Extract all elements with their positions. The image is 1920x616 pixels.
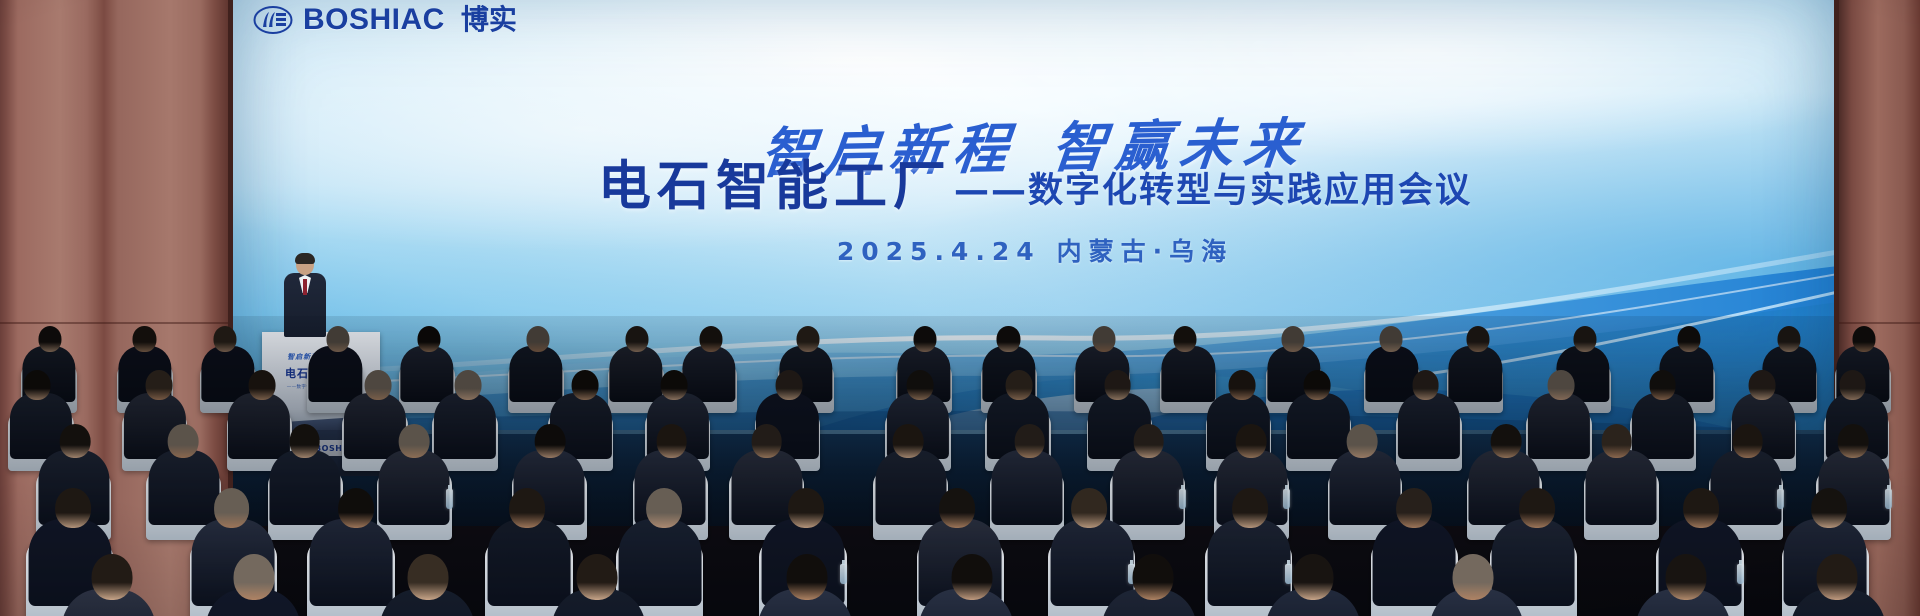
audience-head xyxy=(1601,424,1632,458)
audience-head xyxy=(1520,488,1556,528)
audience-head xyxy=(338,488,374,528)
audience-head xyxy=(1236,424,1267,458)
audience-member xyxy=(912,554,1020,616)
audience-member xyxy=(545,554,653,616)
audience-head xyxy=(1853,326,1876,352)
audience-head xyxy=(455,370,482,400)
audience-head xyxy=(626,326,649,352)
audience-head xyxy=(364,370,391,400)
audience-head xyxy=(1649,370,1676,400)
audience-head xyxy=(1229,370,1256,400)
audience-head xyxy=(1467,326,1490,352)
audience-head xyxy=(656,424,687,458)
water-bottle xyxy=(1885,489,1892,509)
event-date: 2025.4.24 xyxy=(837,237,1041,266)
audience-shoulders xyxy=(1398,393,1460,459)
audience-head xyxy=(248,370,275,400)
audience-member xyxy=(1423,554,1531,616)
audience-head xyxy=(786,554,827,600)
audience-head xyxy=(1133,424,1164,458)
audience-head xyxy=(646,488,682,528)
audience-member xyxy=(1785,554,1893,616)
speaker-tie xyxy=(303,279,307,295)
logo-brand-chinese: 博实 xyxy=(461,6,517,34)
audience-head xyxy=(788,488,824,528)
water-bottle xyxy=(1737,564,1744,584)
speaker-hair xyxy=(295,253,315,264)
audience-head xyxy=(1412,370,1439,400)
audience-head xyxy=(1071,488,1107,528)
audience-head xyxy=(1665,554,1706,600)
event-dateline: 2025.4.24内蒙古·乌海 xyxy=(232,232,1838,268)
audience-head xyxy=(526,326,549,352)
audience-head xyxy=(751,424,782,458)
audience-head xyxy=(571,370,598,400)
audience-head xyxy=(1677,326,1700,352)
audience-head xyxy=(939,488,975,528)
audience-head xyxy=(407,554,448,600)
audience-head xyxy=(1839,370,1866,400)
audience-head xyxy=(1173,326,1196,352)
audience-head xyxy=(1547,370,1574,400)
audience-head xyxy=(660,370,687,400)
audience-head xyxy=(24,370,51,400)
audience-head xyxy=(997,326,1020,352)
water-bottle xyxy=(446,489,453,509)
audience-head xyxy=(1777,326,1800,352)
audience-head xyxy=(1816,554,1857,600)
audience-head xyxy=(1282,326,1305,352)
audience-head xyxy=(289,424,320,458)
audience-head xyxy=(776,370,803,400)
logo-brand-latin: BOSHIAC xyxy=(303,5,445,35)
audience-member xyxy=(55,554,163,616)
audience-head xyxy=(699,326,722,352)
audience-head xyxy=(1133,554,1174,600)
audience-head xyxy=(1104,370,1131,400)
audience-head xyxy=(1014,424,1045,458)
audience-head xyxy=(418,326,441,352)
audience-head xyxy=(133,326,156,352)
audience-head xyxy=(1683,488,1719,528)
audience-head xyxy=(1749,370,1776,400)
audience-head xyxy=(145,370,172,400)
audience-member xyxy=(1096,554,1204,616)
audience-head xyxy=(399,424,430,458)
audience-head xyxy=(1396,488,1432,528)
audience-head xyxy=(893,424,924,458)
audience-head xyxy=(1380,326,1403,352)
audience-head xyxy=(214,488,250,528)
audience-head xyxy=(327,326,350,352)
audience-head xyxy=(1453,554,1494,600)
audience-head xyxy=(60,424,91,458)
audience-head xyxy=(91,554,132,600)
audience-member xyxy=(1260,554,1368,616)
audience-head xyxy=(1811,488,1847,528)
audience-head xyxy=(55,488,91,528)
audience-member xyxy=(751,554,859,616)
audience-head xyxy=(1092,326,1115,352)
audience-member xyxy=(200,554,308,616)
audience-member xyxy=(1581,424,1662,537)
audience-head xyxy=(914,326,937,352)
audience-head xyxy=(535,424,566,458)
event-location: 内蒙古·乌海 xyxy=(1057,237,1234,266)
audience-head xyxy=(213,326,236,352)
audience-shoulders xyxy=(1586,450,1657,525)
audience-head xyxy=(797,326,820,352)
audience-head xyxy=(1573,326,1596,352)
conference-photo: 智启新程智赢未来 电石智能工厂 ——数字化转型与实践应用会议 2025.4.24… xyxy=(0,0,1920,616)
water-bottle xyxy=(1179,489,1186,509)
audience-head xyxy=(234,554,275,600)
boshiac-emblem-icon xyxy=(253,5,293,35)
audience-head xyxy=(952,554,993,600)
audience-head xyxy=(1491,424,1522,458)
event-title-row: 电石智能工厂 ——数字化转型与实践应用会议 xyxy=(232,160,1838,213)
audience-head xyxy=(168,424,199,458)
event-title-main: 电石智能工厂 xyxy=(598,160,952,213)
audience-head xyxy=(1005,370,1032,400)
event-title-subtitle: ——数字化转型与实践应用会议 xyxy=(954,174,1472,213)
audience-head xyxy=(1838,424,1869,458)
audience-head xyxy=(1232,488,1268,528)
audience-head xyxy=(907,370,934,400)
audience-head xyxy=(1292,554,1333,600)
audience-head xyxy=(1347,424,1378,458)
audience-member xyxy=(374,554,482,616)
audience-area xyxy=(0,316,1920,616)
audience-head xyxy=(577,554,618,600)
audience-head xyxy=(1304,370,1331,400)
audience-member xyxy=(1629,554,1737,616)
audience-head xyxy=(509,488,545,528)
audience-head xyxy=(1732,424,1763,458)
audience-head xyxy=(39,326,62,352)
company-logo: BOSHIAC 博实 xyxy=(253,5,517,35)
